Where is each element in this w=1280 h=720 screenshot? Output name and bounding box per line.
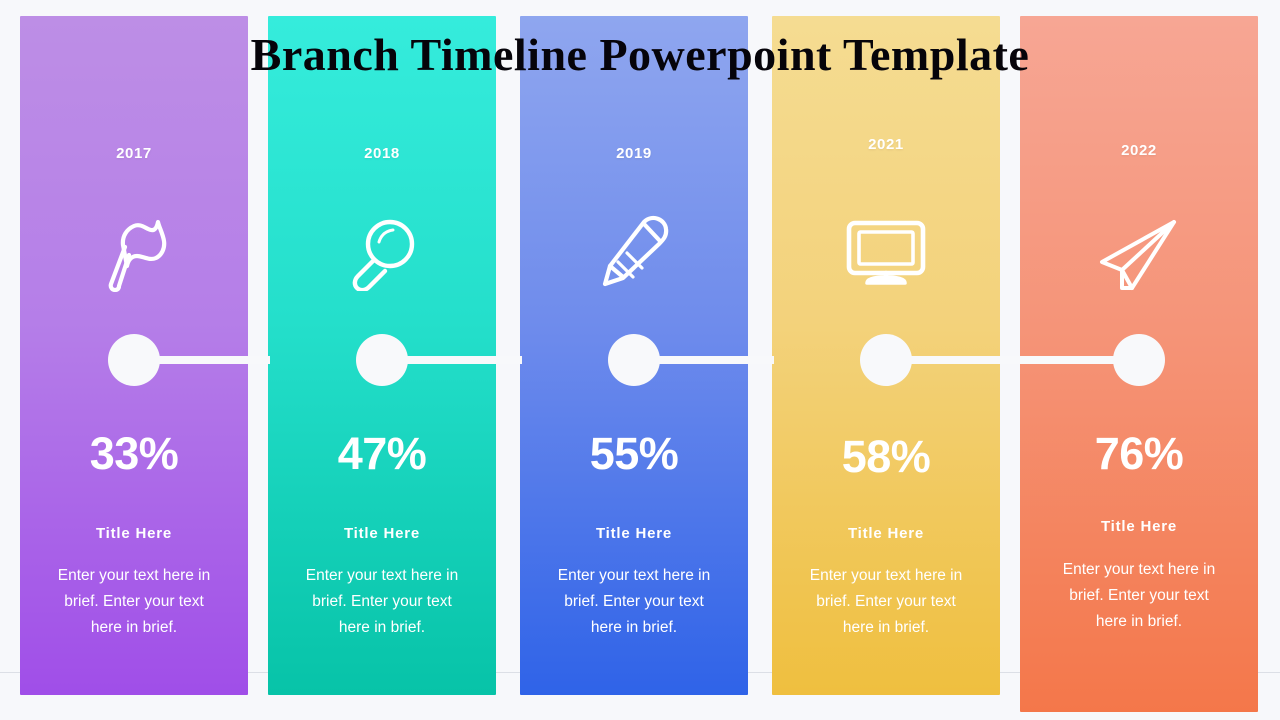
column-year-label: 2021 bbox=[772, 136, 1000, 153]
column-content: 2018 47% Title Here Enter your text here… bbox=[268, 16, 496, 695]
monitor-icon bbox=[772, 219, 1000, 287]
paper-plane-icon bbox=[1020, 216, 1258, 294]
flag-icon bbox=[20, 214, 248, 292]
column-year-label: 2022 bbox=[1020, 142, 1258, 159]
column-percent: 55% bbox=[520, 431, 748, 476]
timeline-column-2022[interactable]: 2022 76% Title Here Enter your text here… bbox=[1020, 16, 1258, 712]
column-title: Title Here bbox=[772, 525, 1000, 542]
column-percent: 33% bbox=[20, 431, 248, 476]
timeline-column-2017[interactable]: 2017 33% Title Here Enter your text here… bbox=[20, 16, 248, 695]
column-body-text: Enter your text here in brief. Enter you… bbox=[302, 563, 462, 641]
column-year-label: 2019 bbox=[520, 145, 748, 162]
timeline-column-2021[interactable]: 2021 58% Title Here Enter your text here… bbox=[772, 16, 1000, 695]
slide-canvas: 2017 33% Title Here Enter your text here… bbox=[0, 0, 1280, 720]
column-percent: 47% bbox=[268, 431, 496, 476]
column-body-text: Enter your text here in brief. Enter you… bbox=[1059, 557, 1219, 635]
column-content: 2021 58% Title Here Enter your text here… bbox=[772, 16, 1000, 695]
timeline-column-2018[interactable]: 2018 47% Title Here Enter your text here… bbox=[268, 16, 496, 695]
column-title: Title Here bbox=[20, 525, 248, 542]
column-body-text: Enter your text here in brief. Enter you… bbox=[554, 563, 714, 641]
column-body-text: Enter your text here in brief. Enter you… bbox=[54, 563, 214, 641]
column-percent: 76% bbox=[1020, 431, 1258, 476]
page-title: Branch Timeline Powerpoint Template bbox=[0, 28, 1280, 81]
pencil-icon bbox=[520, 214, 748, 292]
column-content: 2017 33% Title Here Enter your text here… bbox=[20, 16, 248, 695]
timeline-column-2019[interactable]: 2019 55% Title Here Enter your text here… bbox=[520, 16, 748, 695]
column-year-label: 2017 bbox=[20, 145, 248, 162]
column-year-label: 2018 bbox=[268, 145, 496, 162]
column-title: Title Here bbox=[268, 525, 496, 542]
column-percent: 58% bbox=[772, 434, 1000, 479]
column-title: Title Here bbox=[520, 525, 748, 542]
column-content: 2019 55% Title Here Enter your text here… bbox=[520, 16, 748, 695]
column-content: 2022 76% Title Here Enter your text here… bbox=[1020, 16, 1258, 712]
magnifier-icon bbox=[268, 216, 496, 292]
column-title: Title Here bbox=[1020, 518, 1258, 535]
column-body-text: Enter your text here in brief. Enter you… bbox=[806, 563, 966, 641]
